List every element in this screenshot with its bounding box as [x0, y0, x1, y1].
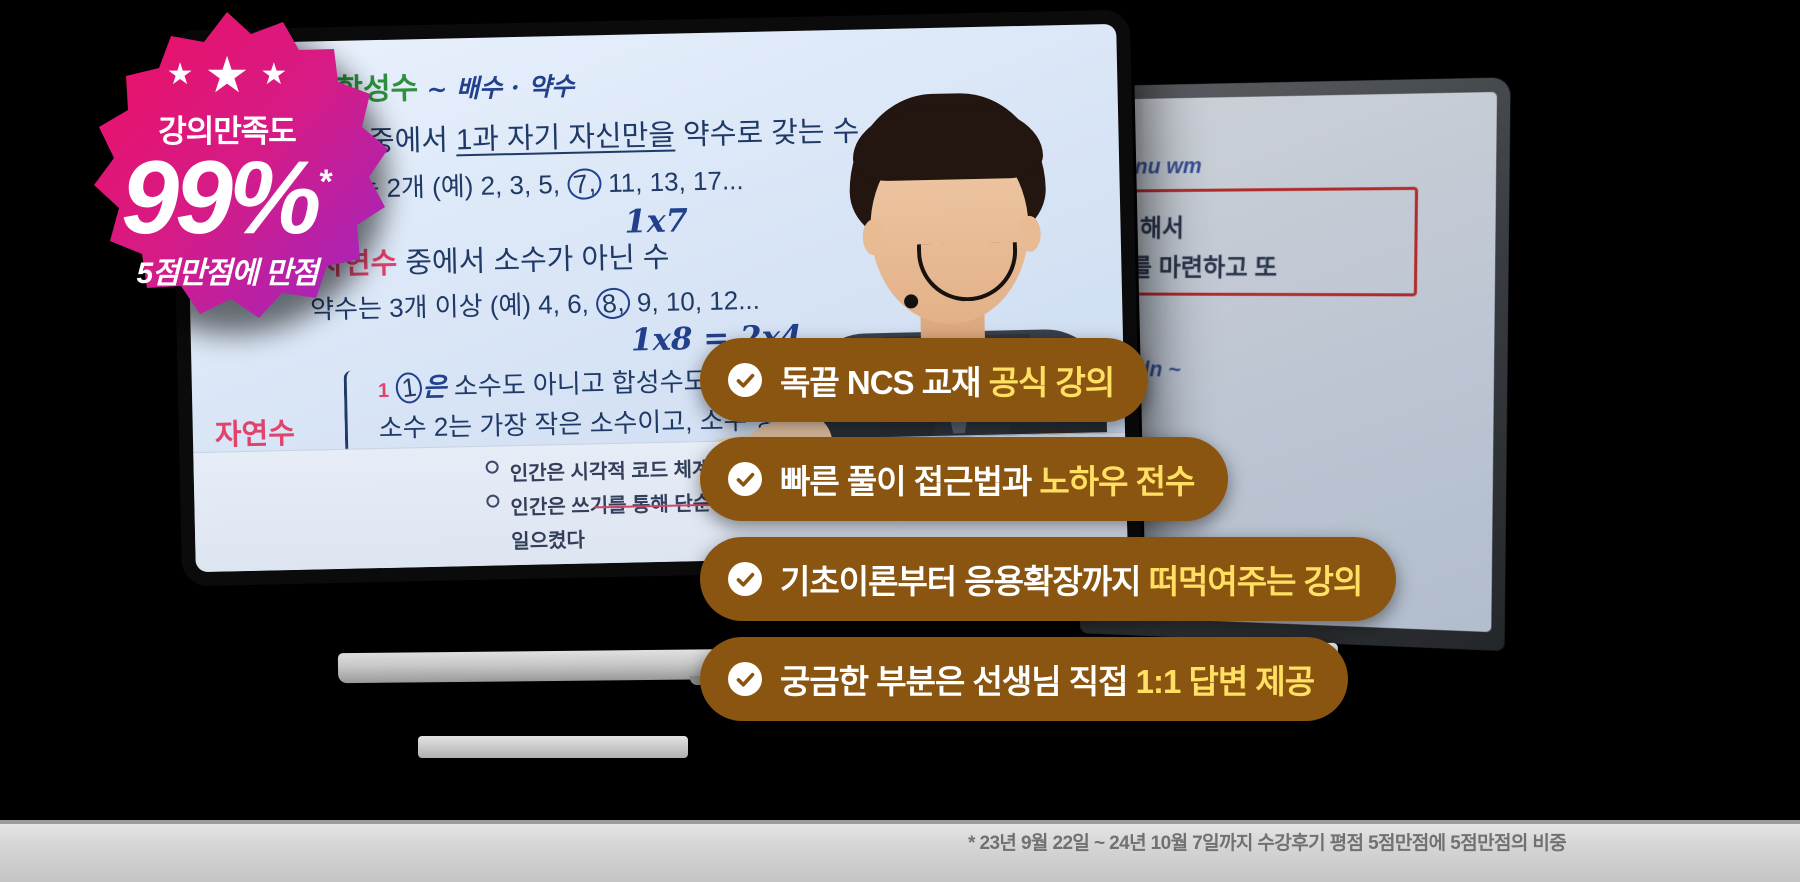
- badge-content: ★ ★ ★ 강의만족도 99% * 5점만점에 만점: [42, 6, 412, 336]
- check-circle-icon: [728, 562, 762, 596]
- wb-left-label: 자연수: [214, 410, 295, 454]
- badge-percent: 99%: [121, 151, 317, 247]
- feature-pill-3[interactable]: 기초이론부터 응용확장까지 떠먹여주는 강의: [700, 537, 1396, 621]
- back-screen-scribble-1: nu wm: [1135, 153, 1202, 179]
- badge-asterisk: *: [319, 167, 332, 198]
- feature-pill-4-plain: 궁금한 부분은 선생님 직접: [780, 663, 1136, 700]
- wb-line3-text: 중에서 소수가 아닌 수: [405, 242, 670, 280]
- feature-pill-1-text: 독끝 NCS 교재 공식 강의: [780, 356, 1114, 404]
- laptop-stand-shelf: [418, 736, 688, 758]
- wb-line2-end: 11, 13, 17...: [608, 165, 744, 198]
- banner-root: nu wm 해서 를 마련하고 또 dn ~ 합성수 ~ 배수 · 약수 연수 …: [0, 0, 1800, 882]
- star-icon: ★: [260, 60, 287, 90]
- back-screen-note-2: 를 마련하고 또: [1130, 248, 1277, 284]
- back-screen-note-1: 해서: [1140, 209, 1185, 245]
- star-icon: ★: [167, 60, 194, 90]
- feature-pill-3-text: 기초이론부터 응용확장까지 떠먹여주는 강의: [780, 555, 1362, 603]
- feature-pill-4-highlight: 1:1 답변 제공: [1136, 663, 1314, 700]
- feature-pill-2[interactable]: 빠른 풀이 접근법과 노하우 전수: [700, 437, 1228, 521]
- wb-line2-circled-number: 7,: [565, 167, 602, 202]
- wb-line4-end: 9, 10, 12...: [637, 285, 761, 318]
- feature-pill-3-plain: 기초이론부터 응용확장까지: [780, 563, 1149, 600]
- wb-line4-circled-number: 8,: [594, 286, 631, 321]
- footnote-text: * 23년 9월 22일 ~ 24년 10월 7일까지 수강후기 평점 5점만점…: [968, 828, 1566, 855]
- lower-slide-line-1: 인간은 시각적 코드 체계를: [509, 452, 729, 486]
- feature-pill-2-text: 빠른 풀이 접근법과 노하우 전수: [780, 455, 1194, 503]
- wb-line1-underlined: 1과 자기 자신만을: [456, 120, 676, 157]
- feature-pill-1-plain: 독끝 NCS 교재: [780, 364, 989, 401]
- feature-pill-2-plain: 빠른 풀이 접근법과: [780, 463, 1039, 500]
- badge-subtitle-bottom: 5점만점에 만점: [136, 248, 317, 292]
- check-circle-icon: [728, 363, 762, 397]
- wb-left-label-text: 자연수: [215, 418, 296, 452]
- instructor-ear-left: [862, 219, 885, 255]
- badge-percent-row: 99% *: [121, 151, 332, 247]
- wb-note-sub: 은: [422, 373, 447, 404]
- badge-stars: ★ ★ ★: [167, 50, 288, 100]
- feature-pill-4-text: 궁금한 부분은 선생님 직접 1:1 답변 제공: [780, 655, 1314, 703]
- feature-pill-2-highlight: 노하우 전수: [1039, 463, 1194, 500]
- check-circle-icon: [728, 662, 762, 696]
- lower-slide-line-3: 일으켰다: [511, 524, 585, 555]
- feature-pill-1-highlight: 공식 강의: [989, 364, 1115, 401]
- check-circle-icon: [728, 462, 762, 496]
- star-icon: ★: [205, 50, 250, 100]
- satisfaction-badge: ★ ★ ★ 강의만족도 99% * 5점만점에 만점: [42, 6, 412, 336]
- feature-pill-4[interactable]: 궁금한 부분은 선생님 직접 1:1 답변 제공: [700, 637, 1348, 721]
- wb-note-circled: 1: [394, 371, 424, 405]
- instructor-ear-right: [1018, 216, 1041, 252]
- ls-bullet-1: [486, 460, 499, 473]
- feature-pill-3-highlight: 떠먹여주는 강의: [1149, 563, 1363, 600]
- desk-edge: [0, 820, 1800, 824]
- feature-pill-1[interactable]: 독끝 NCS 교재 공식 강의: [700, 338, 1148, 422]
- ls-bullet-2: [486, 494, 499, 507]
- wb-title-handwriting: ~ 배수 · 약수: [426, 72, 574, 104]
- wb-note-number: 1: [378, 380, 390, 402]
